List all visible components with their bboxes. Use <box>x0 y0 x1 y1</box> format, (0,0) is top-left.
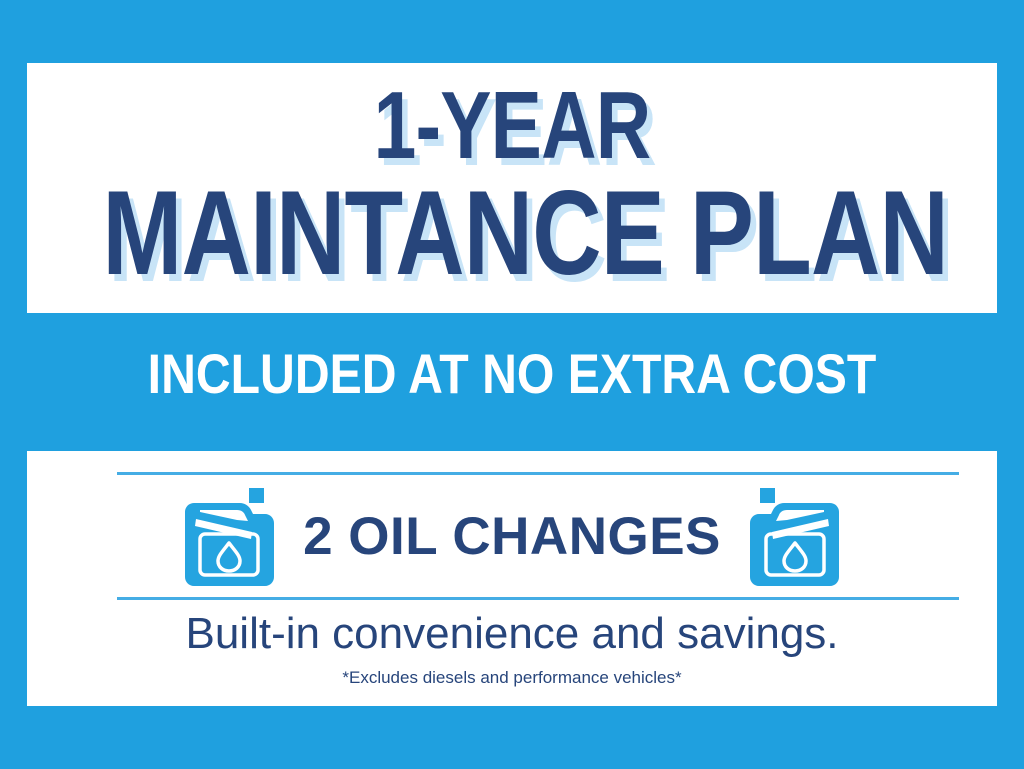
headline-block: 1-YEAR MAINTANCE PLAN <box>0 63 1024 290</box>
subhead-text: INCLUDED AT NO EXTRA COST <box>72 341 953 406</box>
headline-card: 1-YEAR MAINTANCE PLAN <box>27 63 997 313</box>
details-card: 2 OIL CHANGES Built-in convenience and s… <box>27 451 997 706</box>
headline-line-2: MAINTANCE PLAN <box>102 177 921 290</box>
feature-label: 2 OIL CHANGES <box>303 506 721 567</box>
oil-can-icon-left <box>183 486 275 586</box>
feature-row: 2 OIL CHANGES <box>27 481 997 591</box>
disclaimer-text: *Excludes diesels and performance vehicl… <box>27 668 997 688</box>
headline-line-1: 1-YEAR <box>102 81 921 171</box>
divider-rule-bottom <box>117 597 959 600</box>
tagline-text: Built-in convenience and savings. <box>27 609 997 659</box>
oil-can-icon-right <box>749 486 841 586</box>
divider-rule-top <box>117 472 959 475</box>
